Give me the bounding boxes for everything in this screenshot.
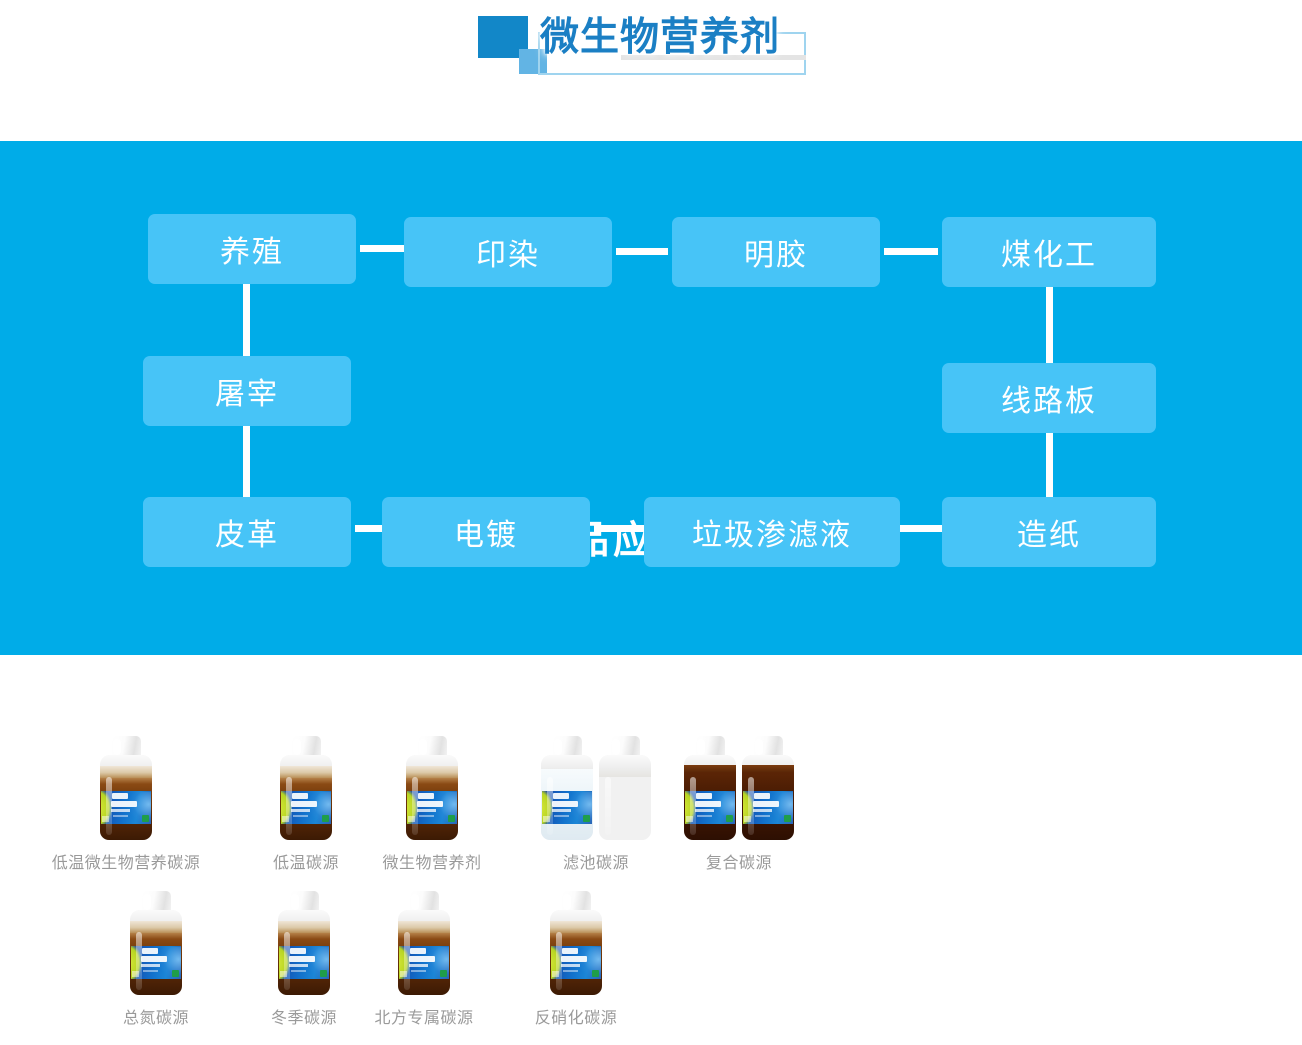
label-fineprint-bar <box>755 815 770 817</box>
label-eco-badge-icon <box>142 815 149 822</box>
product-item[interactable]: 反硝化碳源 <box>492 883 660 1028</box>
bottle-gloss-highlight <box>690 777 696 835</box>
diagram-connector <box>243 426 250 497</box>
product-bottle-amber <box>128 891 184 995</box>
product-bottle-dark <box>740 736 796 840</box>
industry-node-label: 屠宰 <box>215 369 279 413</box>
bottle-gloss-highlight <box>547 777 553 835</box>
label-subline-bar <box>291 809 310 812</box>
product-image <box>72 883 240 995</box>
product-bottle-amber <box>548 891 604 995</box>
bottle-body <box>278 910 330 995</box>
label-subline-bar <box>409 964 428 967</box>
bottle-gloss-highlight <box>136 932 142 990</box>
label-subline-bar <box>552 809 571 812</box>
label-fineprint-bar <box>291 970 306 972</box>
bottle-shoulder <box>599 755 651 777</box>
label-headline-bar <box>552 801 578 807</box>
product-caption: 复合碳源 <box>655 849 823 873</box>
label-fineprint-bar <box>113 815 128 817</box>
diagram-connector <box>355 525 382 532</box>
label-eco-badge-icon <box>320 970 327 977</box>
application-industries-panel: 产品应用行业 养殖印染明胶煤化工屠宰线路板皮革电镀垃圾渗滤液造纸 <box>0 141 1302 655</box>
industry-node[interactable]: 明胶 <box>672 217 880 287</box>
label-fineprint-bar <box>554 815 569 817</box>
label-subline-bar <box>289 964 308 967</box>
industry-node-label: 造纸 <box>1017 510 1081 554</box>
label-fineprint-bar <box>411 970 426 972</box>
label-subline-bar <box>695 809 714 812</box>
industry-node-label: 印染 <box>476 230 540 274</box>
label-fineprint-bar <box>563 970 578 972</box>
industry-node-label: 电镀 <box>454 510 518 554</box>
diagram-connector <box>1046 287 1053 363</box>
label-eco-badge-icon <box>440 970 447 977</box>
product-item[interactable]: 复合碳源 <box>655 728 823 873</box>
label-eco-badge-icon <box>322 815 329 822</box>
label-eco-badge-icon <box>583 815 590 822</box>
product-image <box>655 728 823 840</box>
industry-node[interactable]: 造纸 <box>942 497 1156 567</box>
product-item[interactable]: 微生物营养剂 <box>348 728 516 873</box>
product-bottle-clear2 <box>597 736 653 840</box>
industry-node-label: 垃圾渗滤液 <box>692 510 852 554</box>
industry-node-label: 养殖 <box>220 227 284 271</box>
label-subline-bar <box>417 809 436 812</box>
label-fineprint-bar <box>419 815 434 817</box>
bottle-gloss-highlight <box>404 932 410 990</box>
industry-node[interactable]: 皮革 <box>143 497 351 567</box>
bottle-gloss-highlight <box>284 932 290 990</box>
product-caption: 微生物营养剂 <box>348 849 516 873</box>
bottle-gloss-highlight <box>412 777 418 835</box>
bottle-gloss-highlight <box>605 777 611 835</box>
industry-node[interactable]: 养殖 <box>148 214 356 284</box>
industry-node[interactable]: 垃圾渗滤液 <box>644 497 900 567</box>
page-root: 微生物营养剂 产品应用行业 养殖印染明胶煤化工屠宰线路板皮革电镀垃圾渗滤液造纸 … <box>0 0 1302 1045</box>
industry-node-label: 明胶 <box>744 230 808 274</box>
label-brand-chip <box>562 948 578 954</box>
label-brand-chip <box>292 793 308 799</box>
label-brand-chip <box>142 948 158 954</box>
label-headline-bar <box>417 801 443 807</box>
bottle-body <box>541 755 593 840</box>
bottle-gloss-highlight <box>106 777 112 835</box>
bottle-gloss-highlight <box>286 777 292 835</box>
header-title-group: 微生物营养剂 <box>478 8 838 78</box>
product-bottle-amber <box>396 891 452 995</box>
product-image <box>340 883 508 995</box>
industry-node[interactable]: 电镀 <box>382 497 590 567</box>
product-gallery: 低温微生物营养碳源低温碳源微生物营养剂滤池碳源复合碳源 总氮碳源冬季碳源北方专属… <box>0 655 1302 1045</box>
diagram-connector <box>594 525 644 532</box>
product-image <box>42 728 210 840</box>
label-eco-badge-icon <box>172 970 179 977</box>
bottle-body <box>398 910 450 995</box>
industry-node-label: 皮革 <box>215 510 279 554</box>
product-item[interactable]: 低温微生物营养碳源 <box>42 728 210 873</box>
label-brand-chip <box>418 793 434 799</box>
bottle-gloss-highlight <box>556 932 562 990</box>
bottle-body <box>550 910 602 995</box>
label-eco-badge-icon <box>592 970 599 977</box>
label-eco-badge-icon <box>726 815 733 822</box>
label-eco-badge-icon <box>448 815 455 822</box>
product-image <box>492 883 660 995</box>
bottle-body <box>130 910 182 995</box>
product-caption: 低温微生物营养碳源 <box>42 849 210 873</box>
bottle-foam-line <box>742 765 794 772</box>
industry-node[interactable]: 线路板 <box>942 363 1156 433</box>
label-brand-chip <box>696 793 712 799</box>
label-fineprint-bar <box>697 815 712 817</box>
product-bottle-amber <box>98 736 154 840</box>
diagram-connector <box>243 284 250 356</box>
industry-node[interactable]: 印染 <box>404 217 612 287</box>
label-brand-chip <box>290 948 306 954</box>
label-headline-bar <box>561 956 587 962</box>
product-caption: 总氮碳源 <box>72 1004 240 1028</box>
product-bottle-amber <box>404 736 460 840</box>
bottle-body <box>742 755 794 840</box>
label-fineprint-bar <box>293 815 308 817</box>
bottle-body <box>406 755 458 840</box>
product-caption: 反硝化碳源 <box>492 1004 660 1028</box>
industry-node-label: 线路板 <box>1001 376 1097 420</box>
diagram-connector <box>900 525 942 532</box>
bottle-body <box>599 755 651 840</box>
page-header: 微生物营养剂 <box>0 0 1302 132</box>
bottle-gloss-highlight <box>748 777 754 835</box>
bottle-foam-line <box>684 765 736 772</box>
label-fineprint-bar <box>143 970 158 972</box>
bottle-body <box>100 755 152 840</box>
label-subline-bar <box>753 809 772 812</box>
industry-node[interactable]: 煤化工 <box>942 217 1156 287</box>
bottle-body <box>280 755 332 840</box>
label-subline-bar <box>141 964 160 967</box>
product-image <box>348 728 516 840</box>
diagram-connector <box>616 248 668 255</box>
label-eco-badge-icon <box>784 815 791 822</box>
page-title: 微生物营养剂 <box>540 6 780 62</box>
label-headline-bar <box>753 801 779 807</box>
industry-node-label: 煤化工 <box>1001 230 1097 274</box>
diagram-connector <box>360 245 404 252</box>
label-headline-bar <box>291 801 317 807</box>
product-bottle-amber <box>278 736 334 840</box>
product-item[interactable]: 北方专属碳源 <box>340 883 508 1028</box>
label-brand-chip <box>754 793 770 799</box>
product-bottle-amber <box>276 891 332 995</box>
label-brand-chip <box>553 793 569 799</box>
label-brand-chip <box>112 793 128 799</box>
label-headline-bar <box>695 801 721 807</box>
product-item[interactable]: 总氮碳源 <box>72 883 240 1028</box>
industry-diagram: 产品应用行业 养殖印染明胶煤化工屠宰线路板皮革电镀垃圾渗滤液造纸 <box>0 141 1302 655</box>
label-headline-bar <box>409 956 435 962</box>
label-headline-bar <box>111 801 137 807</box>
bottle-body <box>684 755 736 840</box>
label-subline-bar <box>111 809 130 812</box>
diagram-connector <box>884 248 938 255</box>
label-subline-bar <box>561 964 580 967</box>
industry-node[interactable]: 屠宰 <box>143 356 351 426</box>
label-brand-chip <box>410 948 426 954</box>
product-bottle-dark <box>682 736 738 840</box>
label-headline-bar <box>289 956 315 962</box>
diagram-connector <box>1046 433 1053 497</box>
label-headline-bar <box>141 956 167 962</box>
product-caption: 北方专属碳源 <box>340 1004 508 1028</box>
product-bottle-clear <box>539 736 595 840</box>
